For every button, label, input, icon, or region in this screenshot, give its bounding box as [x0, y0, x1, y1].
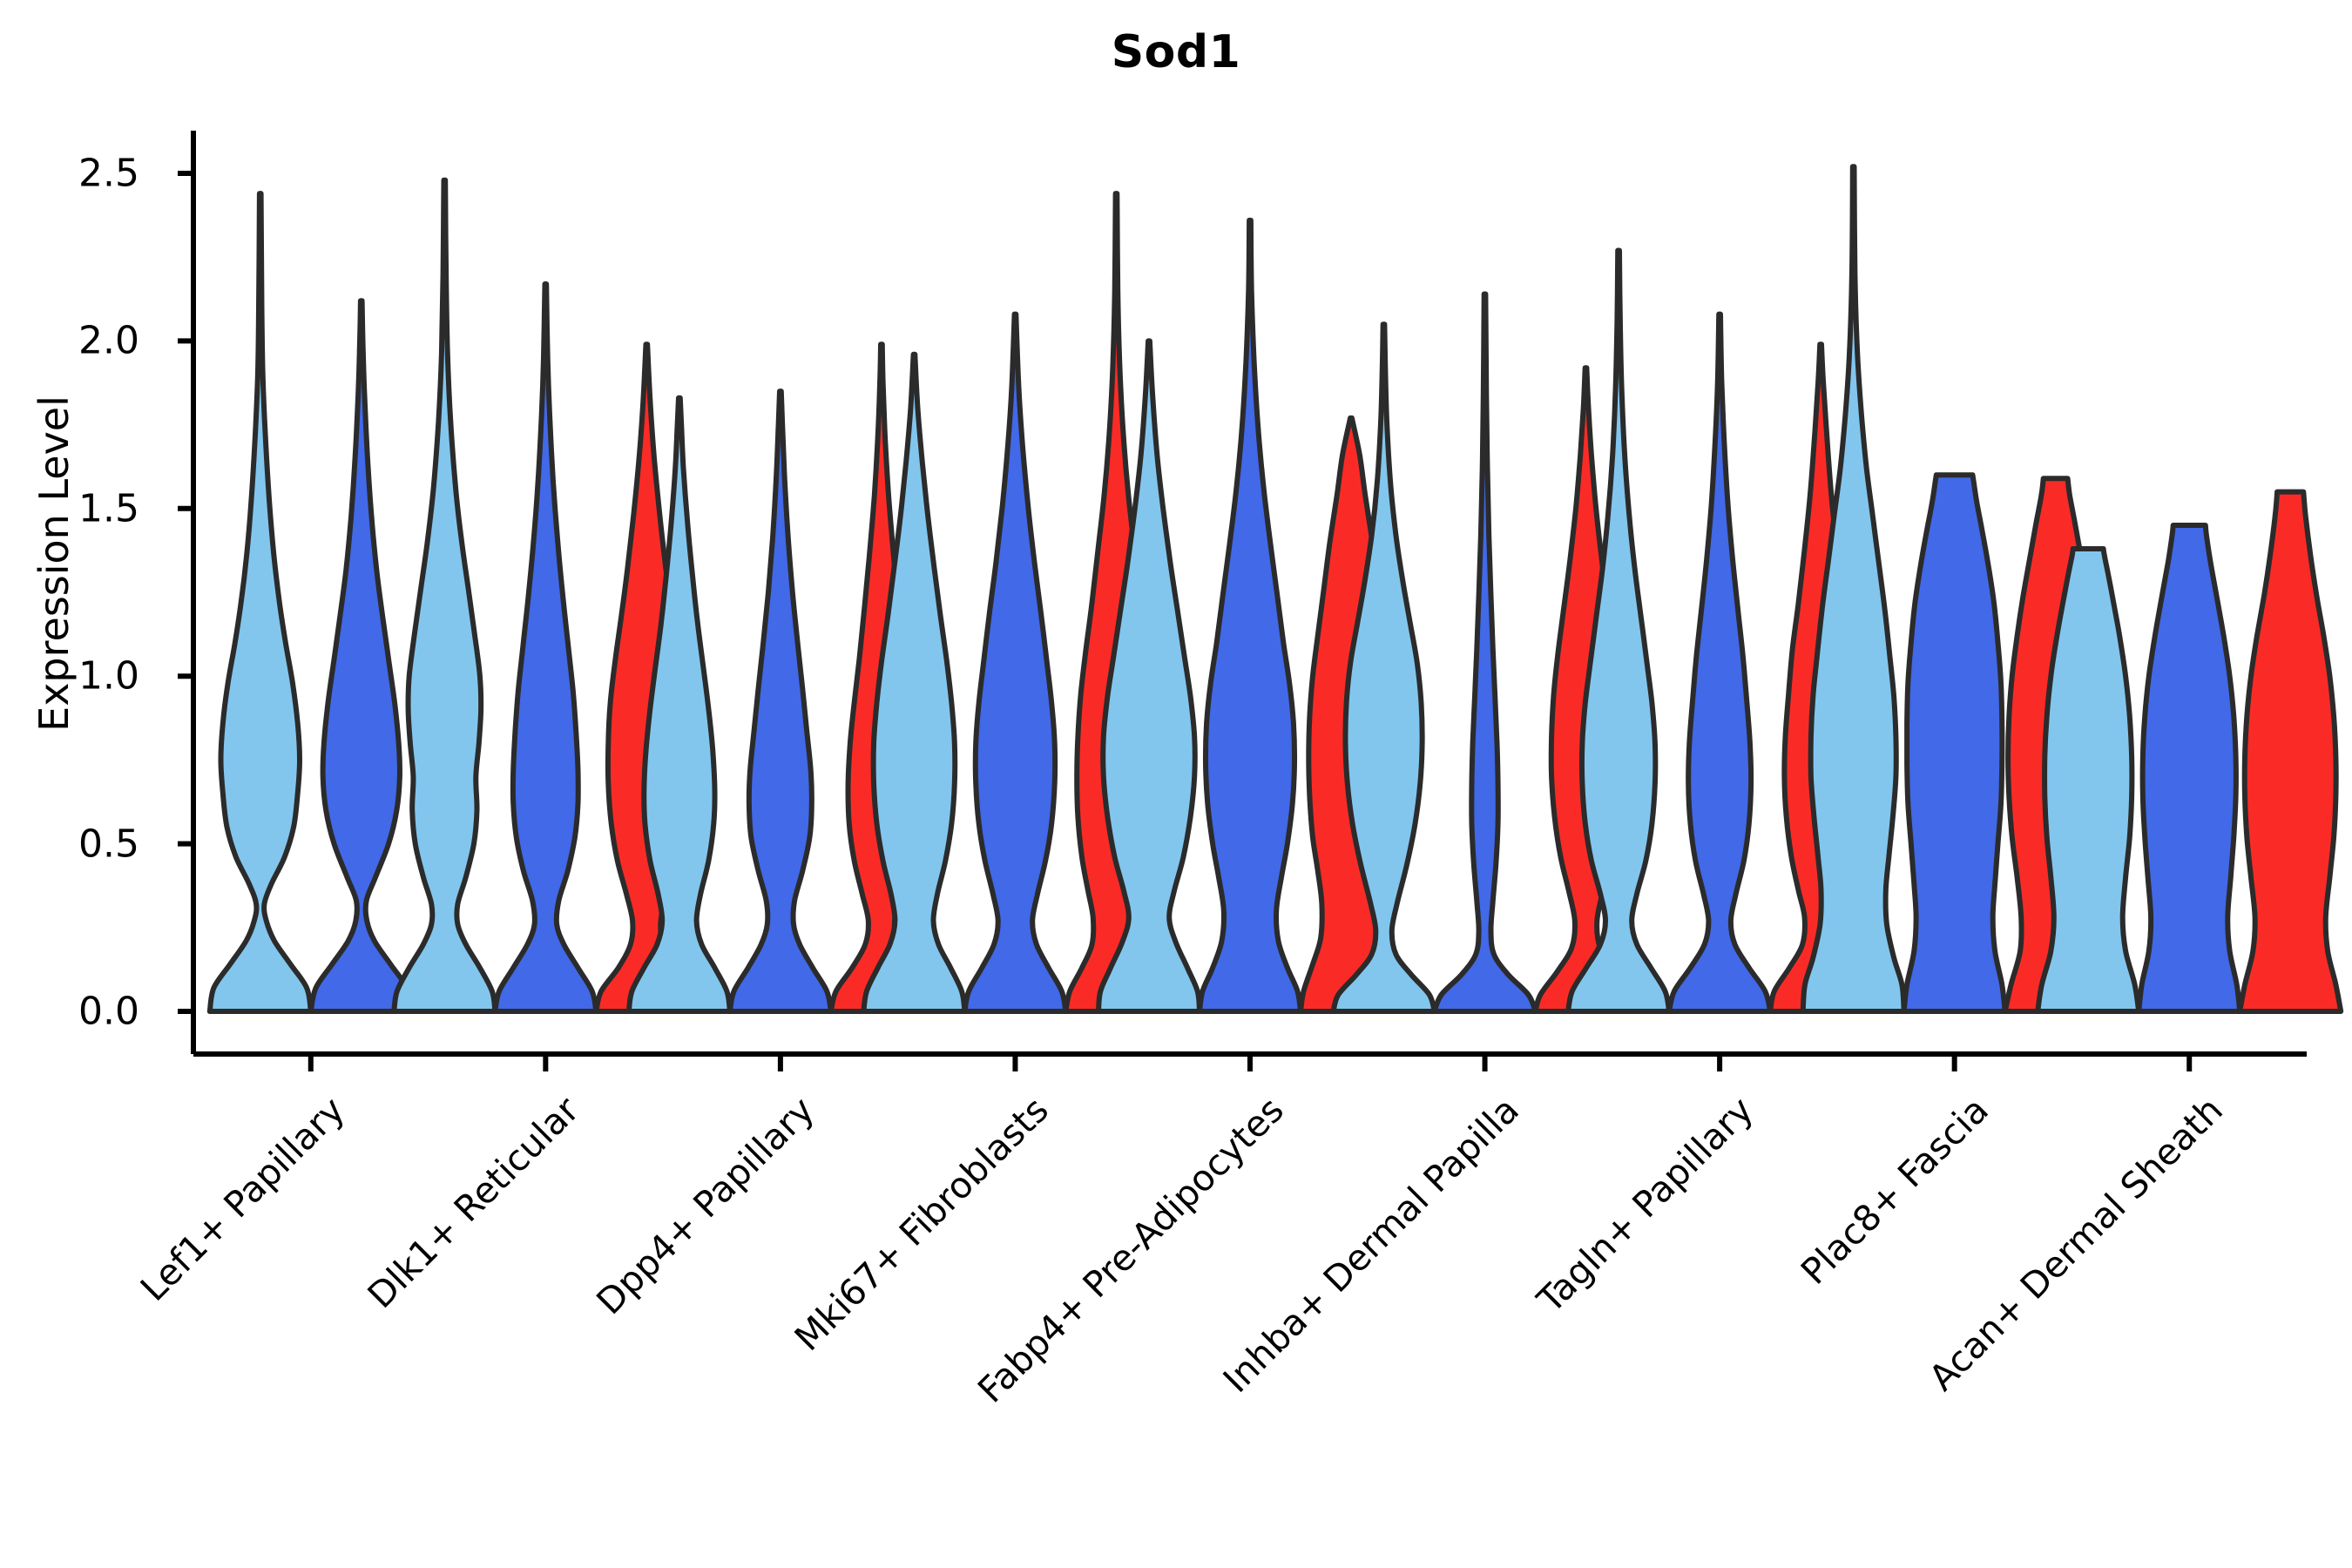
- violin-blue: [2139, 525, 2240, 1011]
- violin-blue: [495, 284, 596, 1011]
- violin-blue: [1435, 294, 1536, 1012]
- violin-group: [210, 166, 2341, 1011]
- violin-red: [2240, 492, 2341, 1011]
- violin-blue: [1904, 475, 2005, 1011]
- violin-plot-figure: Sod1 Expression Level 0.00.51.01.52.02.5…: [0, 0, 2352, 1568]
- violin-blue: [1669, 314, 1770, 1011]
- violin-blue: [964, 314, 1065, 1011]
- violin-light_blue: [210, 193, 311, 1011]
- violin-blue: [311, 301, 412, 1011]
- violin-light_blue: [394, 180, 495, 1011]
- violin-blue: [1200, 220, 1301, 1011]
- violin-blue: [730, 391, 831, 1011]
